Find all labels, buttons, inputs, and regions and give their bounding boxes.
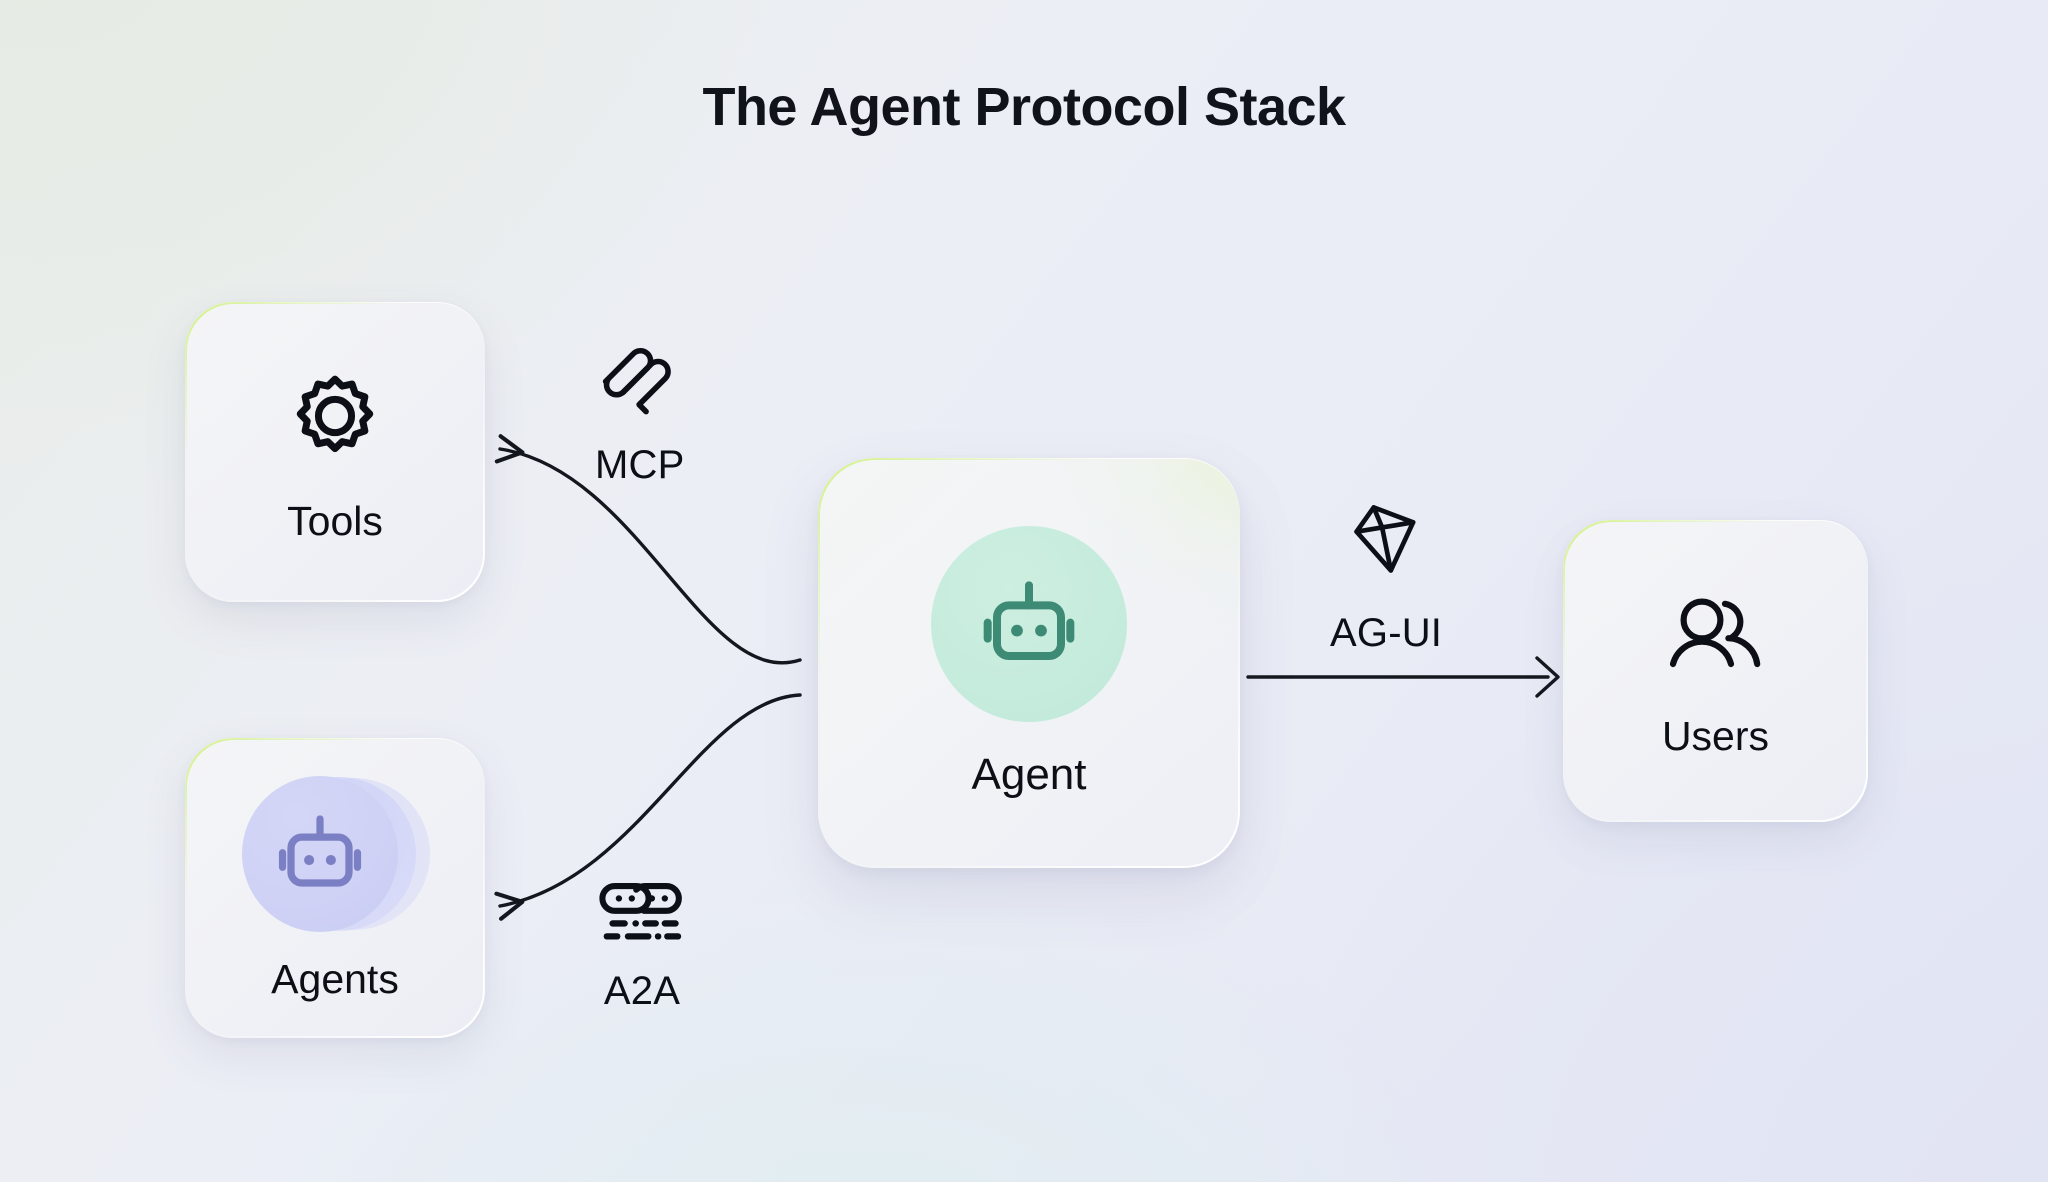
node-card-tools[interactable]: Tools [185, 302, 485, 602]
node-card-users[interactable]: Users [1563, 520, 1868, 822]
users-icon [1660, 583, 1772, 683]
robot-icon [262, 796, 378, 912]
page-title: The Agent Protocol Stack [0, 76, 2048, 138]
node-card-agent[interactable]: Agent [818, 458, 1240, 868]
robot-icon [965, 560, 1093, 688]
a2a-logo-icon [595, 880, 689, 951]
node-label-users: Users [1662, 713, 1769, 760]
protocol-label-mcp: MCP [595, 443, 685, 488]
node-card-agents[interactable]: Agents [185, 738, 485, 1038]
connector-arrowhead-agui [1537, 658, 1558, 696]
connector-path-a2a [500, 695, 800, 906]
node-label-agents: Agents [271, 956, 399, 1003]
robot-stack-icon [240, 774, 430, 934]
protocol-mcp: MCP [595, 336, 685, 488]
mcp-logo-icon [597, 336, 683, 427]
protocol-label-agui: AG-UI [1330, 611, 1442, 656]
diagram-canvas: The Agent Protocol Stack Tools [0, 0, 2048, 1182]
node-label-tools: Tools [287, 498, 383, 545]
ag-ui-logo-icon [1347, 500, 1425, 589]
protocol-agui: AG-UI [1330, 500, 1442, 656]
gear-icon [279, 360, 391, 472]
protocol-a2a: A2A [595, 880, 689, 1014]
node-label-agent: Agent [972, 750, 1087, 800]
agent-avatar-circle [931, 526, 1127, 722]
protocol-label-a2a: A2A [604, 969, 680, 1014]
